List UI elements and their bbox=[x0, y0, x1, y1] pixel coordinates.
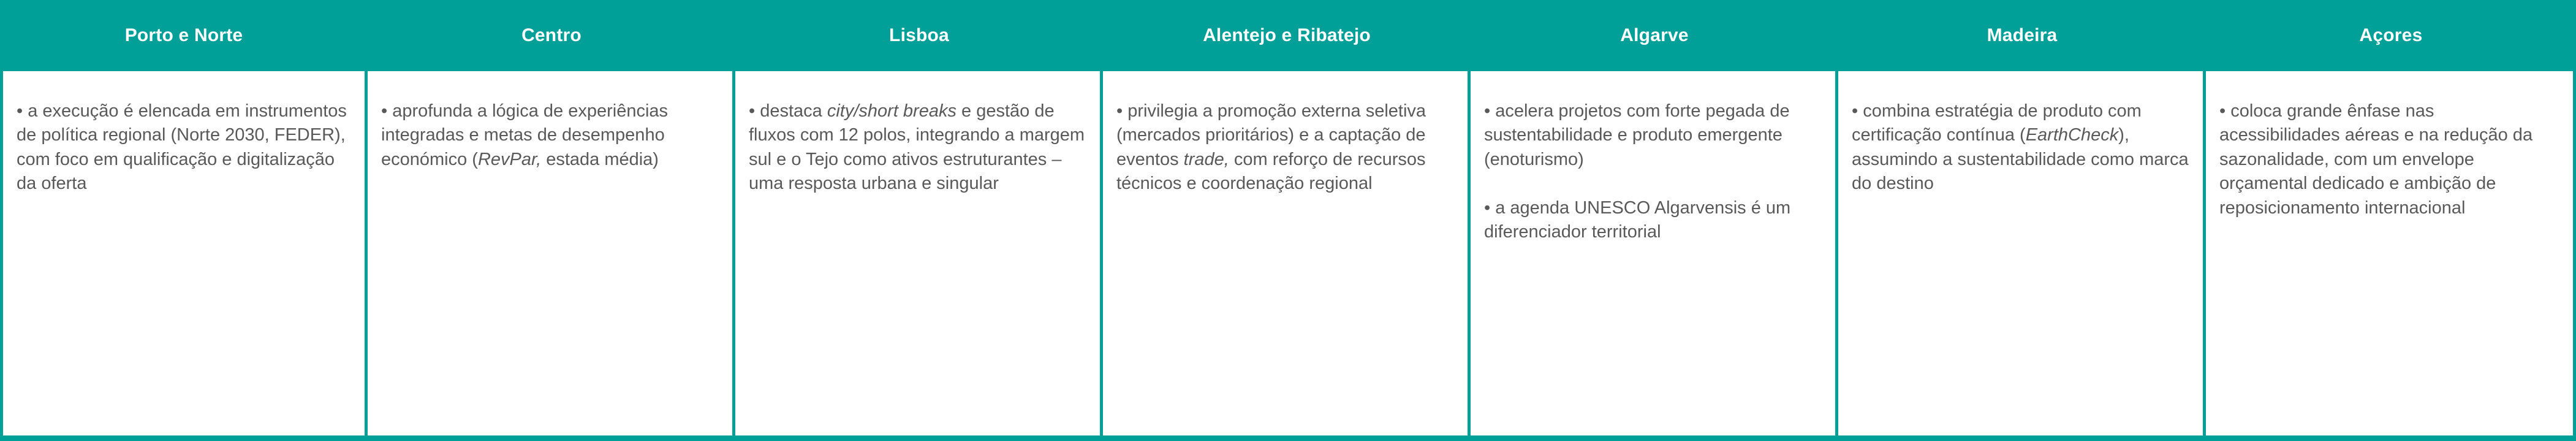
table-body-row: • a execução é elencada em instrumentos … bbox=[0, 71, 2576, 441]
bullet-item: • acelera projetos com forte pegada de s… bbox=[1484, 99, 1822, 172]
table-cell-centro: • aprofunda a lógica de experiências int… bbox=[368, 71, 735, 435]
bullet-text: • destaca bbox=[749, 101, 827, 121]
column-header-lisboa: Lisboa bbox=[735, 0, 1103, 71]
bullet-item: • privilegia a promoção externa seletiva… bbox=[1116, 99, 1454, 196]
bullet-text: • a execução é elencada em instrumentos … bbox=[17, 101, 347, 193]
bullet-emphasis: RevPar, bbox=[478, 150, 541, 169]
column-header-madeira: Madeira bbox=[1838, 0, 2206, 71]
bullet-text: • a agenda UNESCO Algarvensis é um difer… bbox=[1484, 198, 1790, 242]
bullet-text: estada média) bbox=[541, 150, 659, 169]
bullet-emphasis: EarthCheck bbox=[2026, 125, 2119, 145]
table-cell-algarve: • acelera projetos com forte pegada de s… bbox=[1471, 71, 1838, 435]
table-cell-lisboa: • destaca city/short breaks e gestão de … bbox=[735, 71, 1103, 435]
column-header-porto-e-norte: Porto e Norte bbox=[0, 0, 368, 71]
table-cell-acores: • coloca grande ênfase nas acessibilidad… bbox=[2206, 71, 2573, 435]
bullet-item: • aprofunda a lógica de experiências int… bbox=[381, 99, 719, 172]
bullet-item: • a execução é elencada em instrumentos … bbox=[17, 99, 351, 196]
table-cell-porto-e-norte: • a execução é elencada em instrumentos … bbox=[3, 71, 368, 435]
table-cell-madeira: • combina estratégia de produto com cert… bbox=[1838, 71, 2206, 435]
bullet-emphasis: city/short breaks bbox=[827, 101, 957, 121]
bullet-item: • destaca city/short breaks e gestão de … bbox=[749, 99, 1086, 196]
bullet-item: • coloca grande ênfase nas acessibilidad… bbox=[2219, 99, 2559, 220]
bullet-item: • a agenda UNESCO Algarvensis é um difer… bbox=[1484, 196, 1822, 245]
regional-strategy-table: Porto e Norte Centro Lisboa Alentejo e R… bbox=[0, 0, 2576, 441]
bullet-emphasis: trade, bbox=[1184, 150, 1229, 169]
bullet-item: • combina estratégia de produto com cert… bbox=[1852, 99, 2189, 196]
column-header-algarve: Algarve bbox=[1471, 0, 1838, 71]
table-header-row: Porto e Norte Centro Lisboa Alentejo e R… bbox=[0, 0, 2576, 71]
bullet-text: • acelera projetos com forte pegada de s… bbox=[1484, 101, 1790, 169]
column-header-centro: Centro bbox=[368, 0, 735, 71]
column-header-alentejo-e-ribatejo: Alentejo e Ribatejo bbox=[1103, 0, 1471, 71]
bullet-text: • coloca grande ênfase nas acessibilidad… bbox=[2219, 101, 2532, 218]
column-header-acores: Açores bbox=[2206, 0, 2576, 71]
table-cell-alentejo-e-ribatejo: • privilegia a promoção externa seletiva… bbox=[1103, 71, 1471, 435]
